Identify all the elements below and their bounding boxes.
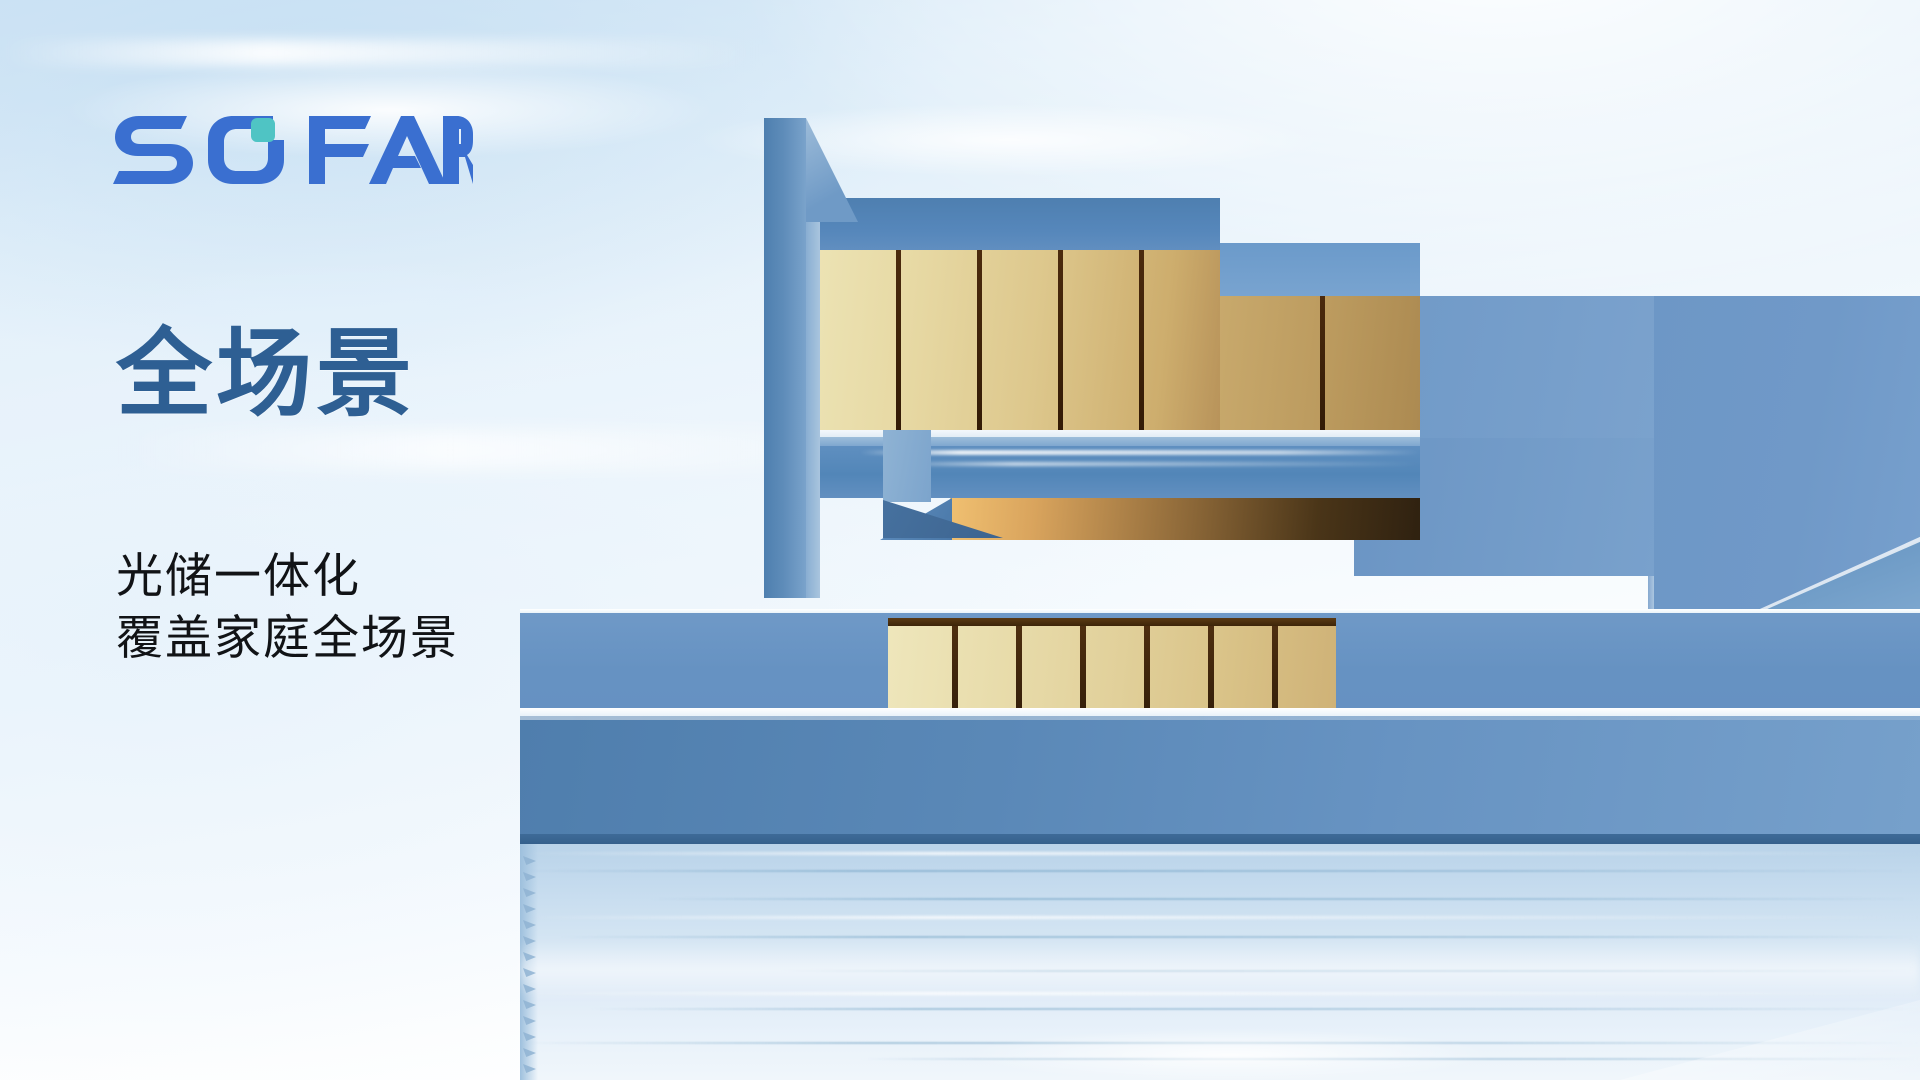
upper-glazing-panels xyxy=(815,250,1220,430)
lower-deck-body xyxy=(520,716,1920,834)
water-soft-band xyxy=(520,940,1920,1000)
vertical-fin xyxy=(764,118,806,598)
lower-deck-base xyxy=(520,834,1920,844)
page-title: 全场景 xyxy=(116,326,416,424)
water-streak xyxy=(590,1008,1920,1010)
glazing-mullion xyxy=(1058,250,1063,430)
under-slab-gloss-2 xyxy=(880,462,1420,466)
vertical-fin-side xyxy=(806,222,820,598)
sofar-logo[interactable] xyxy=(113,108,473,192)
hero-subtitle-line-2: 覆盖家庭全场景 xyxy=(116,608,459,670)
glazing-mullion xyxy=(977,250,982,430)
water-streak xyxy=(650,898,1920,900)
glazing-mullion xyxy=(896,250,901,430)
dark-soffit-band xyxy=(950,498,1420,540)
lower-deck-body-highlight xyxy=(520,716,1920,720)
upper-header-band-right xyxy=(1220,243,1420,298)
lower-glazing-head-frame xyxy=(888,618,1336,626)
water-shine xyxy=(520,852,1920,855)
hero-subtitle: 光储一体化 覆盖家庭全场景 xyxy=(116,546,459,669)
upper-glazing-panels-right xyxy=(1220,296,1420,430)
upper-header-band-left xyxy=(815,198,1220,254)
glazing-mullion xyxy=(952,622,958,709)
glazing-mullion xyxy=(1016,622,1022,709)
water-streak xyxy=(560,936,1920,938)
glazing-mullion xyxy=(1208,622,1214,709)
upper-volume-left-box xyxy=(883,430,931,502)
glazing-mullion xyxy=(1272,622,1278,709)
lower-deck-sill xyxy=(520,708,1920,716)
glazing-mullion xyxy=(1320,296,1325,430)
glazing-mullion xyxy=(1139,250,1144,430)
glazing-mullion xyxy=(1144,622,1150,709)
hero-banner: 全场景 光储一体化 覆盖家庭全场景 xyxy=(0,0,1920,1080)
under-slab-gloss-1 xyxy=(860,450,1420,455)
lower-glazing-band xyxy=(888,622,1336,709)
water-glow xyxy=(880,1020,1580,1080)
glazing-mullion xyxy=(1080,622,1086,709)
hero-subtitle-line-1: 光储一体化 xyxy=(116,546,459,608)
water-streak xyxy=(520,870,1920,872)
water-shine xyxy=(520,916,1920,919)
